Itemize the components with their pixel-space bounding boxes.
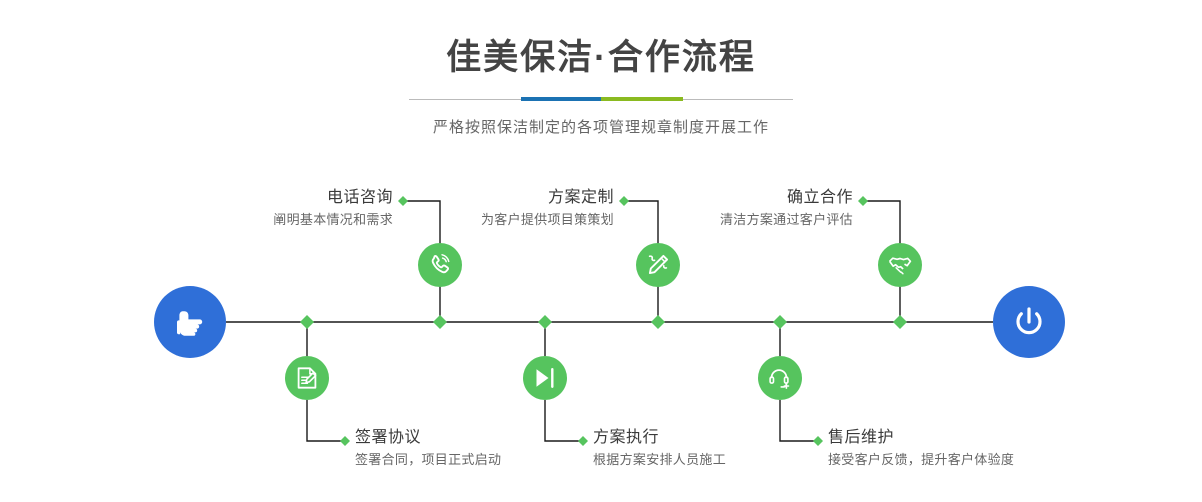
label-desc: 清洁方案通过客户评估 xyxy=(653,209,853,231)
label-title: 方案定制 xyxy=(414,187,614,209)
step-node-plan-customization[interactable] xyxy=(636,243,680,287)
label-diamond-markers xyxy=(340,196,868,446)
label-title: 电话咨询 xyxy=(193,187,393,209)
label-title: 签署协议 xyxy=(355,427,585,449)
play-execute-icon xyxy=(532,365,558,391)
power-icon xyxy=(1009,302,1049,342)
flow-start-node[interactable] xyxy=(154,286,226,358)
step-node-after-sales[interactable] xyxy=(758,356,802,400)
process-flow-diagram: 电话咨询 阐明基本情况和需求 方案定制 为客户提供项目策策划 确立合作 清洁方案… xyxy=(0,0,1202,502)
headset-support-icon xyxy=(767,365,793,391)
phone-call-icon xyxy=(427,252,453,278)
label-title: 方案执行 xyxy=(593,427,823,449)
label-phone-consultation: 电话咨询 阐明基本情况和需求 xyxy=(193,187,393,231)
flow-end-node[interactable] xyxy=(993,286,1065,358)
label-title: 确立合作 xyxy=(653,187,853,209)
step-node-establish-cooperation[interactable] xyxy=(878,243,922,287)
label-establish-cooperation: 确立合作 清洁方案通过客户评估 xyxy=(653,187,853,231)
label-desc: 根据方案安排人员施工 xyxy=(593,449,823,471)
label-desc: 阐明基本情况和需求 xyxy=(193,209,393,231)
label-plan-customization: 方案定制 为客户提供项目策策划 xyxy=(414,187,614,231)
label-title: 售后维护 xyxy=(828,427,1088,449)
step-node-sign-agreement[interactable] xyxy=(285,356,329,400)
label-after-sales: 售后维护 接受客户反馈，提升客户体验度 xyxy=(828,427,1088,471)
handshake-icon xyxy=(887,252,913,278)
document-edit-icon xyxy=(294,365,320,391)
elbow-down-1 xyxy=(307,400,345,441)
label-desc: 签署合同，项目正式启动 xyxy=(355,449,585,471)
label-plan-execution: 方案执行 根据方案安排人员施工 xyxy=(593,427,823,471)
label-sign-agreement: 签署协议 签署合同，项目正式启动 xyxy=(355,427,585,471)
step-node-plan-execution[interactable] xyxy=(523,356,567,400)
elbow-up-3 xyxy=(863,201,900,243)
label-desc: 为客户提供项目策策划 xyxy=(414,209,614,231)
step-node-phone-consultation[interactable] xyxy=(418,243,462,287)
label-desc: 接受客户反馈，提升客户体验度 xyxy=(828,449,1088,471)
pointing-hand-icon xyxy=(170,302,210,342)
pencil-edit-icon xyxy=(645,252,671,278)
